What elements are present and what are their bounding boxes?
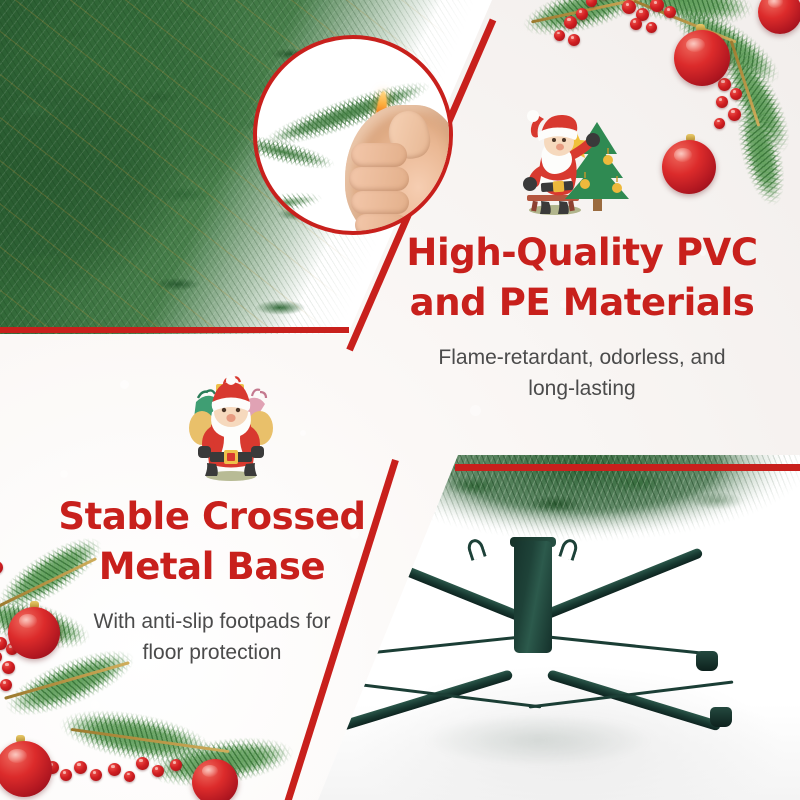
circle-inset-flame-test xyxy=(253,35,453,235)
subline-line-1: Flame-retardant, odorless, and xyxy=(398,342,766,373)
hand-finger-2 xyxy=(349,167,409,191)
feature-text-material: High-Quality PVC and PE Materials Flame-… xyxy=(398,228,766,404)
hand-finger-1 xyxy=(351,143,407,167)
subline-line-2: long-lasting xyxy=(398,373,766,404)
panel-base-border-top xyxy=(455,464,800,471)
ornament-ball xyxy=(192,759,238,800)
headline-line-1: High-Quality PVC xyxy=(398,228,766,278)
anti-slip-footpad-3 xyxy=(324,709,346,729)
stand-collar-bottom xyxy=(510,637,556,649)
ornament-ball xyxy=(0,741,52,797)
infographic-stage: High-Quality PVC and PE Materials Flame-… xyxy=(0,0,800,800)
anti-slip-footpad-4 xyxy=(710,707,732,727)
feature-headline-material: High-Quality PVC and PE Materials xyxy=(398,228,766,328)
anti-slip-footpad-2 xyxy=(696,651,718,671)
panel-tree-border-bottom xyxy=(0,327,349,333)
feature-subline-material: Flame-retardant, odorless, and long-last… xyxy=(398,342,766,404)
hand-finger-3 xyxy=(351,191,409,214)
floor-reflection xyxy=(388,705,688,775)
subline-line-1: With anti-slip footpads for xyxy=(38,606,386,637)
headline-line-1: Stable Crossed xyxy=(38,492,386,542)
photo-panel-metal-base xyxy=(318,455,800,800)
santa-decorating-tree-icon xyxy=(505,98,633,216)
headline-line-2: and PE Materials xyxy=(398,278,766,328)
ornament-ball xyxy=(758,0,800,34)
ornament-ball xyxy=(662,140,716,194)
ornament-ball xyxy=(674,30,730,86)
inset-pine-branch-bottom-left xyxy=(253,183,328,226)
headline-line-2: Metal Base xyxy=(38,542,386,592)
feature-headline-base: Stable Crossed Metal Base xyxy=(38,492,386,592)
santa-with-gift-sack-icon xyxy=(176,372,286,482)
tree-bottom-foliage xyxy=(358,455,800,591)
